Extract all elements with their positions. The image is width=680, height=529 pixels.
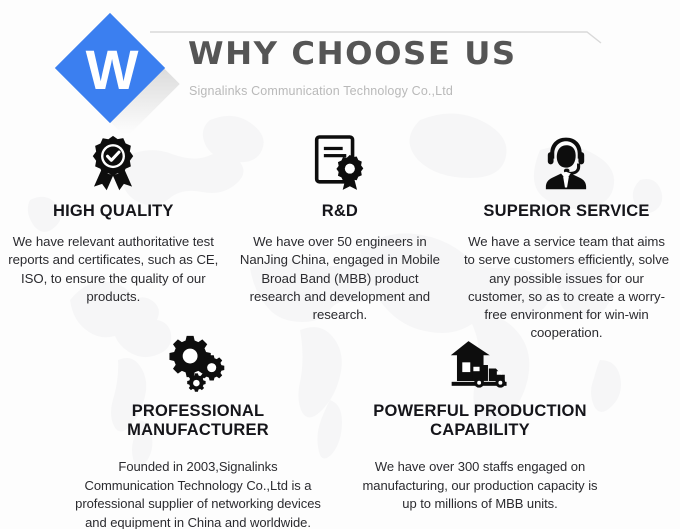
company-subtitle: Signalinks Communication Technology Co.,… bbox=[189, 84, 453, 98]
feature-body: We have over 50 engineers in NanJing Chi… bbox=[235, 233, 446, 324]
features-top-row: HIGH QUALITY We have relevant authoritat… bbox=[0, 130, 680, 315]
feature-body: Founded in 2003,Signalinks Communication… bbox=[72, 458, 324, 529]
feature-high-quality: HIGH QUALITY We have relevant authoritat… bbox=[0, 130, 227, 315]
feature-superior-service: SUPERIOR SERVICE We have a service team … bbox=[453, 130, 680, 315]
features-bottom-row: PROFESSIONAL MANUFACTURER Founded in 200… bbox=[0, 330, 680, 529]
why-choose-us-page: W WHY CHOOSE US Signalinks Communication… bbox=[0, 0, 680, 529]
feature-title: SUPERIOR SERVICE bbox=[461, 202, 672, 221]
feature-powerful-production: POWERFUL PRODUCTION CAPABILITY We have o… bbox=[344, 330, 616, 529]
factory-truck-icon bbox=[354, 330, 606, 392]
feature-rnd: R&D We have over 50 engineers in NanJing… bbox=[227, 130, 454, 315]
gears-icon bbox=[72, 330, 324, 392]
header-rule-decoration bbox=[150, 30, 610, 44]
award-badge-icon bbox=[8, 130, 219, 192]
feature-title: R&D bbox=[235, 202, 446, 221]
feature-title: HIGH QUALITY bbox=[8, 202, 219, 221]
page-header: W WHY CHOOSE US Signalinks Communication… bbox=[0, 0, 680, 128]
feature-body: We have a service team that aims to serv… bbox=[461, 233, 672, 343]
feature-title: PROFESSIONAL MANUFACTURER bbox=[72, 402, 324, 440]
feature-body: We have relevant authoritative test repo… bbox=[8, 233, 219, 306]
feature-professional-manufacturer: PROFESSIONAL MANUFACTURER Founded in 200… bbox=[62, 330, 334, 529]
logo-letter: W bbox=[72, 31, 150, 109]
feature-title: POWERFUL PRODUCTION CAPABILITY bbox=[354, 402, 606, 440]
certificate-document-icon bbox=[235, 130, 446, 192]
support-agent-headset-icon bbox=[461, 130, 672, 192]
feature-body: We have over 300 staffs engaged on manuf… bbox=[354, 458, 606, 514]
